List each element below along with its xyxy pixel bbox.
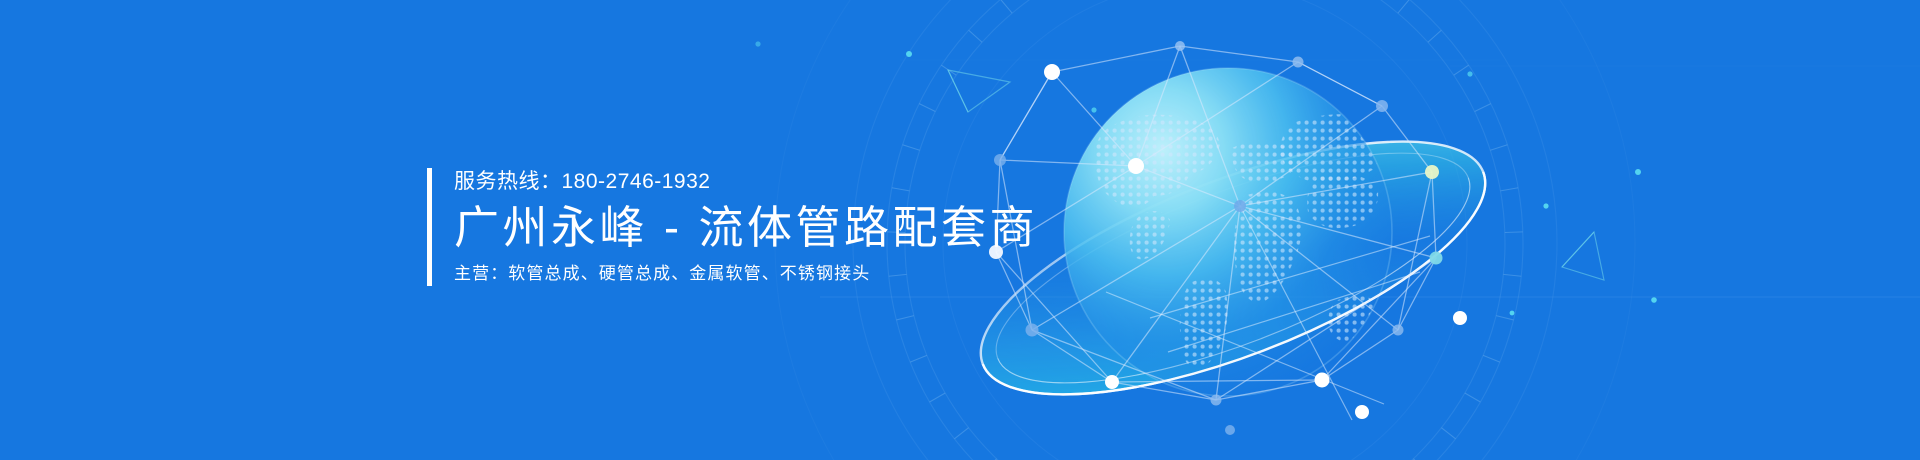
page-title: 广州永峰 - 流体管路配套商 (454, 202, 1038, 254)
hotline-text: 服务热线：180-2746-1932 (454, 169, 1038, 195)
text-lines: 服务热线：180-2746-1932 广州永峰 - 流体管路配套商 主营：软管总… (454, 168, 1038, 286)
subtitle-text: 主营：软管总成、硬管总成、金属软管、不锈钢接头 (454, 263, 1038, 285)
banner-text-block: 服务热线：180-2746-1932 广州永峰 - 流体管路配套商 主营：软管总… (427, 168, 1038, 286)
hero-banner: 服务热线：180-2746-1932 广州永峰 - 流体管路配套商 主营：软管总… (0, 0, 1920, 460)
accent-bar (427, 168, 432, 286)
network-globe (1064, 68, 1392, 396)
